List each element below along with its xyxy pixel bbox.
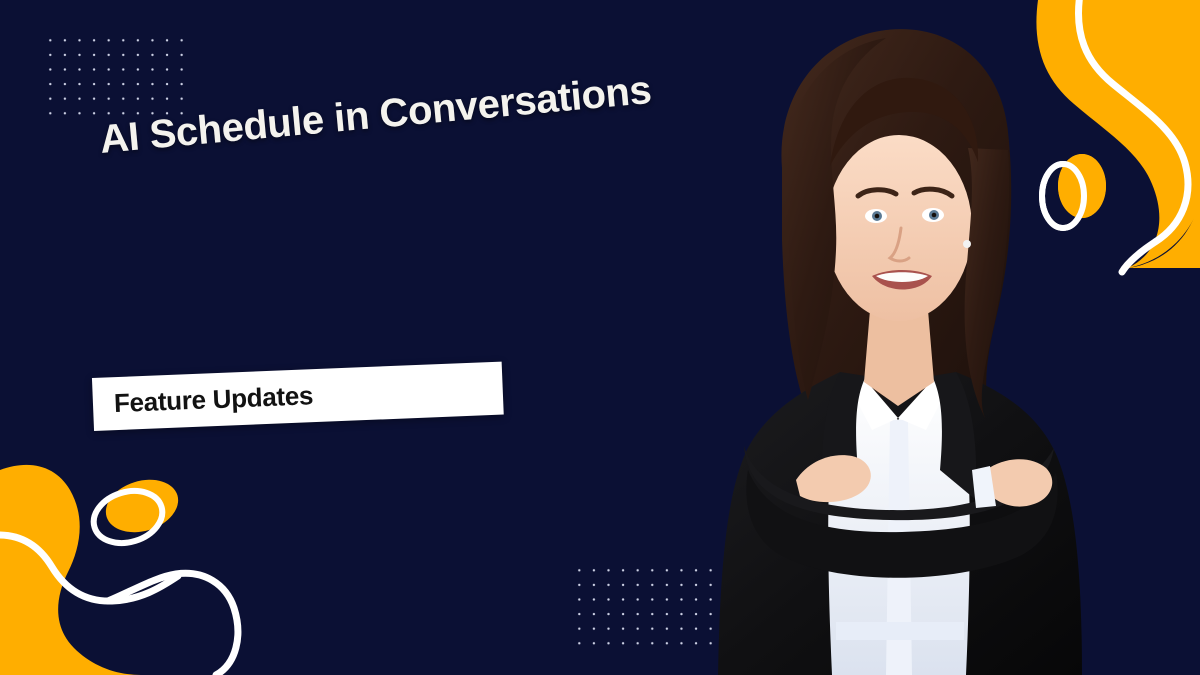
earring xyxy=(963,240,971,248)
badge-label: Feature Updates xyxy=(113,380,313,419)
presenter-photo xyxy=(690,0,1110,675)
shirt-waist-band xyxy=(836,622,964,640)
wave-bottom-left-curve-icon xyxy=(108,573,238,675)
pupil-right xyxy=(932,213,937,218)
blob-top-right-extension-icon xyxy=(1128,186,1200,268)
dot-grid-top xyxy=(41,31,193,119)
pupil-left xyxy=(875,214,880,219)
blob-bottom-left-icon xyxy=(0,474,130,675)
page-title: AI Schedule in Conversations xyxy=(98,68,653,163)
blob-bottom-left-lobe-icon xyxy=(0,465,141,675)
face xyxy=(826,135,972,321)
feature-updates-badge: Feature Updates xyxy=(92,362,504,431)
feature-update-banner: AI Schedule in Conversations Feature Upd… xyxy=(0,0,1200,675)
presenter-illustration xyxy=(690,0,1110,675)
ellipse-bottom-left-icon xyxy=(99,471,184,540)
wave-bottom-left-icon xyxy=(0,535,178,601)
ellipse-ring-bottom-left-icon xyxy=(87,483,169,551)
